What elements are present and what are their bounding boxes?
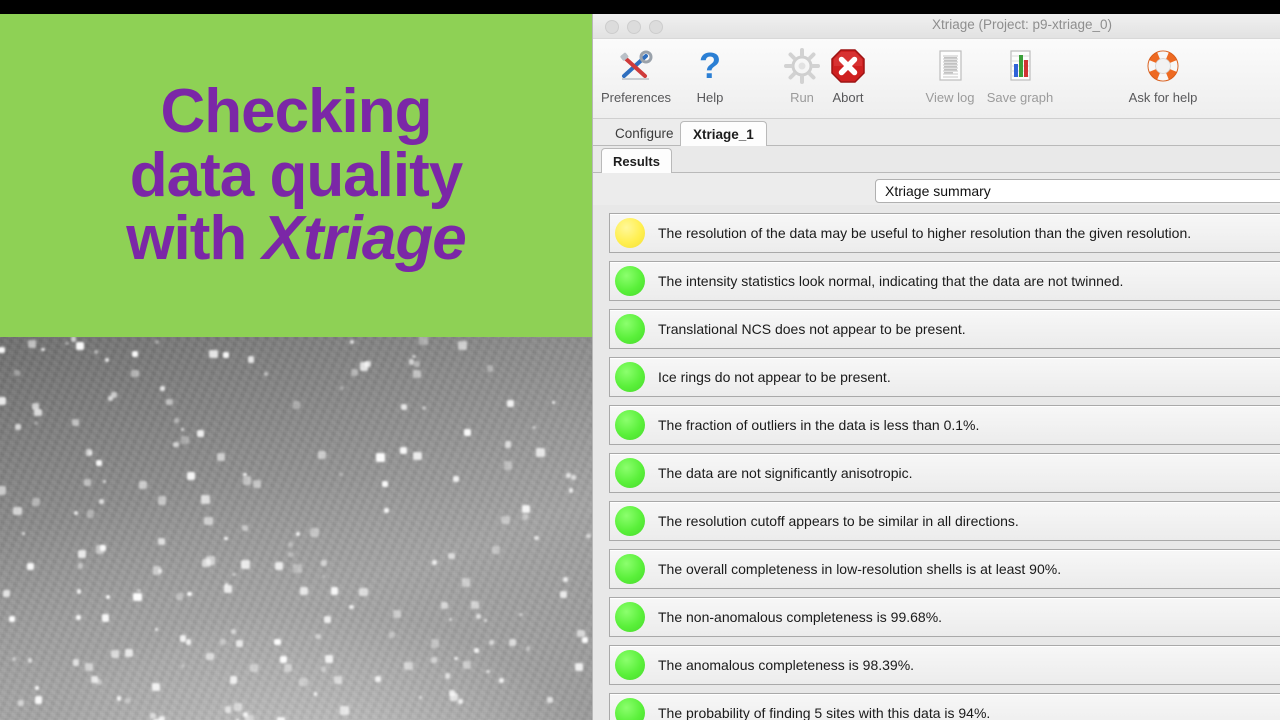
diffraction-spot: [18, 700, 24, 706]
diffraction-spot: [250, 664, 259, 673]
diffraction-spot: [152, 683, 161, 692]
stop-x-icon: [828, 44, 868, 88]
diffraction-spot: [99, 499, 104, 504]
diffraction-spot: [413, 370, 421, 378]
diffraction-spot: [76, 615, 81, 620]
diffraction-spot: [400, 447, 407, 454]
diffraction-spot: [458, 341, 467, 350]
diffraction-spot: [27, 563, 34, 570]
tab-configure[interactable]: Configure: [603, 122, 686, 145]
diffraction-spot: [419, 337, 428, 345]
diffraction-spot: [566, 473, 571, 478]
diffraction-spot: [15, 424, 21, 430]
diffraction-spot: [534, 536, 538, 540]
diffraction-spot: [206, 556, 214, 564]
status-indicator-green: [615, 602, 645, 632]
diffraction-spot: [71, 337, 76, 342]
diffraction-spot: [504, 461, 512, 469]
diffraction-spot: [225, 706, 232, 713]
diffraction-spot: [293, 401, 300, 408]
toolbar-button-help[interactable]: ? Help: [671, 44, 749, 116]
diffraction-spot: [471, 601, 479, 609]
diffraction-spot: [9, 616, 15, 622]
tab-bar: Configure Xtriage_1: [593, 119, 1280, 146]
diffraction-spot: [448, 553, 454, 559]
result-row[interactable]: The overall completeness in low-resoluti…: [609, 549, 1280, 589]
diffraction-spot: [577, 630, 585, 638]
diffraction-spot: [458, 699, 463, 704]
diffraction-spot: [166, 399, 172, 405]
diffraction-spot: [432, 560, 437, 565]
status-indicator-green: [615, 698, 645, 720]
diffraction-spot: [206, 653, 214, 661]
diffraction-spot: [34, 409, 42, 417]
document-icon: [930, 44, 970, 88]
diffraction-spot: [575, 663, 583, 671]
diffraction-spot: [321, 666, 327, 672]
letterbox-bar-top: [0, 0, 1280, 14]
diffraction-spot: [393, 610, 401, 618]
diffraction-spot: [454, 657, 457, 660]
diffraction-spot: [96, 460, 102, 466]
diffraction-spot: [231, 629, 237, 635]
result-row-text: The fraction of outliers in the data is …: [658, 417, 979, 433]
diffraction-spot: [507, 400, 514, 407]
diffraction-spot: [365, 361, 371, 367]
diffraction-spot: [131, 370, 138, 377]
diffraction-spot: [181, 436, 189, 444]
diffraction-spot: [224, 537, 228, 541]
diffraction-spot: [413, 452, 422, 461]
diffraction-spot: [331, 587, 338, 594]
diffraction-spot: [150, 713, 156, 719]
diffraction-spot: [106, 595, 109, 598]
result-row-text: The non-anomalous completeness is 99.68%…: [658, 609, 942, 625]
status-indicator-green: [615, 362, 645, 392]
diffraction-spot: [76, 342, 84, 350]
diffraction-spot: [173, 442, 179, 448]
diffraction-spot: [100, 545, 106, 551]
diffraction-spot: [288, 552, 294, 558]
diffraction-spot: [505, 441, 511, 447]
result-row-text: The overall completeness in low-resoluti…: [658, 561, 1061, 577]
diffraction-spot: [509, 639, 516, 646]
diffraction-spot: [547, 697, 553, 703]
diffraction-spot: [526, 646, 530, 650]
diffraction-spot: [35, 696, 42, 703]
diffraction-spot: [243, 473, 247, 477]
diffraction-spot: [409, 359, 415, 365]
diffraction-spot: [72, 419, 79, 426]
diffraction-spot: [586, 534, 591, 539]
diffraction-spot: [125, 698, 131, 704]
diffraction-spot: [275, 562, 283, 570]
toolbar-label-abort: Abort: [832, 90, 863, 105]
diffraction-spot: [501, 516, 510, 525]
diffraction-spot: [176, 593, 183, 600]
diffraction-spot: [300, 587, 308, 595]
diffraction-spot: [111, 650, 119, 658]
status-indicator-green: [615, 266, 645, 296]
diffraction-spot: [32, 498, 40, 506]
svg-text:?: ?: [699, 46, 721, 86]
diffraction-spot: [78, 563, 83, 568]
diffraction-spot: [376, 453, 385, 462]
diffraction-spot: [234, 703, 242, 711]
slide-title-line-3: with Xtriage: [126, 207, 465, 271]
diffraction-spot: [86, 449, 92, 455]
diffraction-spot: [236, 640, 243, 647]
toolbar-label-help: Help: [697, 90, 724, 105]
slide-title-line-3-text: with: [126, 204, 262, 273]
diffraction-spot: [431, 657, 437, 663]
diffraction-spot: [102, 614, 110, 622]
diffraction-spot: [441, 602, 448, 609]
diffraction-spot: [34, 421, 38, 425]
diffraction-spot: [315, 634, 321, 640]
result-row-text: The anomalous completeness is 98.39%.: [658, 657, 914, 673]
diffraction-spot: [158, 496, 167, 505]
result-row-text: The resolution of the data may be useful…: [658, 225, 1191, 241]
diffraction-spot: [280, 656, 287, 663]
diffraction-spot: [13, 507, 21, 515]
diffraction-spot: [223, 352, 229, 358]
diffraction-spot: [230, 676, 237, 683]
diffraction-spot: [0, 486, 6, 495]
diffraction-spot: [522, 514, 528, 520]
diffraction-spot: [3, 590, 10, 597]
sub-tab-results[interactable]: Results: [601, 148, 672, 173]
result-row-text: Translational NCS does not appear to be …: [658, 321, 966, 337]
lifebuoy-icon: [1143, 44, 1183, 88]
diffraction-spot: [158, 538, 165, 545]
diffraction-spot: [445, 673, 450, 678]
diffraction-spot: [284, 664, 291, 671]
result-row[interactable]: The data are not significantly anisotrop…: [609, 453, 1280, 493]
diffraction-spot: [87, 510, 95, 518]
toolbar-button-save-graph[interactable]: Save graph: [981, 44, 1059, 116]
diffraction-spot: [431, 639, 439, 647]
diffraction-spot: [349, 605, 353, 609]
result-row-text: Ice rings do not appear to be present.: [658, 369, 891, 385]
slide-title-line-1: Checking: [160, 80, 431, 144]
question-mark-icon: ?: [690, 44, 730, 88]
toolbar: Preferences ? Help: [593, 39, 1280, 119]
status-indicator-yellow: [615, 218, 645, 248]
diffraction-spot: [522, 505, 530, 513]
diffraction-spot: [322, 575, 325, 578]
diffraction-spot: [453, 476, 459, 482]
diffraction-spot: [414, 361, 419, 366]
diffraction-spot: [242, 525, 248, 531]
result-row[interactable]: The anomalous completeness is 98.39%.: [609, 645, 1280, 685]
screenshot-stage: Checking data quality with Xtriage Xtria…: [0, 0, 1280, 720]
diffraction-spot: [201, 495, 210, 504]
result-row[interactable]: The fraction of outliers in the data is …: [609, 405, 1280, 445]
diffraction-spot: [476, 614, 481, 619]
diffraction-spot: [41, 348, 45, 352]
diffraction-spot: [382, 481, 388, 487]
window-title: Xtriage (Project: p9-xtriage_0): [593, 17, 1280, 32]
diffraction-spot: [422, 406, 426, 410]
xtriage-window: Xtriage (Project: p9-xtriage_0) Preferen…: [592, 14, 1280, 720]
toolbar-button-view-log[interactable]: View log: [911, 44, 989, 116]
diffraction-spot: [243, 476, 251, 484]
diffraction-spot: [401, 404, 407, 410]
tools-icon: [616, 44, 656, 88]
diffraction-spot: [243, 712, 248, 717]
diffraction-spot: [384, 508, 389, 513]
summary-select[interactable]: Xtriage summary: [875, 179, 1280, 203]
diffraction-spot: [560, 591, 567, 598]
diffraction-spot: [499, 678, 504, 683]
diffraction-spot: [389, 632, 395, 638]
toolbar-button-ask-for-help[interactable]: Ask for help: [1108, 44, 1218, 116]
diffraction-spot: [155, 340, 159, 344]
diffraction-spot: [186, 639, 191, 644]
diffraction-spot: [324, 616, 331, 623]
diffraction-spot: [0, 397, 6, 405]
diffraction-spot: [288, 542, 293, 547]
diffraction-spot: [217, 453, 224, 460]
diffraction-spot: [350, 340, 354, 344]
diffraction-spot: [449, 618, 452, 621]
diffraction-spot: [419, 696, 422, 699]
diffraction-spot: [340, 706, 349, 715]
status-indicator-green: [615, 410, 645, 440]
diffraction-spot: [139, 481, 147, 489]
diffraction-spot: [274, 639, 280, 645]
status-indicator-green: [615, 458, 645, 488]
diffraction-spot: [334, 676, 342, 684]
diffraction-spot: [133, 593, 142, 602]
diffraction-spot: [375, 676, 381, 682]
diffraction-spot: [204, 517, 213, 526]
diffraction-spot: [14, 370, 20, 376]
diffraction-spot: [209, 350, 218, 359]
diffraction-spot: [84, 479, 91, 486]
result-row[interactable]: The resolution of the data may be useful…: [609, 213, 1280, 253]
diffraction-spot: [78, 550, 86, 558]
status-indicator-green: [615, 650, 645, 680]
bar-chart-icon: [1000, 44, 1040, 88]
diffraction-spot: [532, 426, 535, 429]
diffraction-spot: [450, 693, 458, 701]
result-row-text: The intensity statistics look normal, in…: [658, 273, 1123, 289]
diffraction-spot: [519, 613, 523, 617]
diffraction-spot: [340, 386, 344, 390]
diffraction-spot: [486, 670, 489, 673]
toolbar-label-ask-for-help: Ask for help: [1129, 90, 1198, 105]
diffraction-spot: [318, 451, 327, 460]
status-indicator-green: [615, 506, 645, 536]
diffraction-spot: [582, 637, 588, 643]
diffraction-spot: [137, 589, 140, 592]
toolbar-button-preferences[interactable]: Preferences: [597, 44, 675, 116]
diffraction-spot: [253, 480, 261, 488]
diffraction-spot: [241, 560, 250, 569]
diffraction-image: [0, 337, 592, 720]
diffraction-spot: [73, 659, 79, 665]
diffraction-spot: [125, 649, 133, 657]
diffraction-spot: [359, 588, 367, 596]
diffraction-spot: [463, 661, 471, 669]
diffraction-spot: [224, 585, 231, 592]
result-row[interactable]: Ice rings do not appear to be present.: [609, 357, 1280, 397]
result-row[interactable]: The intensity statistics look normal, in…: [609, 261, 1280, 301]
presentation-slide: Checking data quality with Xtriage: [0, 14, 592, 720]
diffraction-spot: [105, 358, 109, 362]
result-row-text: The data are not significantly anisotrop…: [658, 465, 912, 481]
results-list: The resolution of the data may be useful…: [593, 205, 1280, 720]
diffraction-spot: [187, 472, 195, 480]
diffraction-spot: [293, 564, 302, 573]
diffraction-spot: [464, 429, 471, 436]
diffraction-spot: [22, 532, 25, 535]
tab-xtriage-1[interactable]: Xtriage_1: [680, 121, 767, 146]
diffraction-spot: [111, 392, 117, 398]
diffraction-spot: [85, 663, 93, 671]
diffraction-spot: [91, 676, 98, 683]
result-row[interactable]: The probability of finding 5 sites with …: [609, 693, 1280, 720]
sub-tab-bar: Results: [593, 146, 1280, 173]
window-titlebar: Xtriage (Project: p9-xtriage_0): [593, 14, 1280, 39]
diffraction-spot: [187, 592, 191, 596]
diffraction-spot: [117, 696, 122, 701]
diffraction-spot: [487, 365, 493, 371]
diffraction-spot: [325, 655, 333, 663]
toolbar-label-save-graph: Save graph: [987, 90, 1054, 105]
status-indicator-green: [615, 314, 645, 344]
diffraction-spot: [310, 528, 319, 537]
status-indicator-green: [615, 554, 645, 584]
toolbar-label-preferences: Preferences: [601, 90, 671, 105]
diffraction-spot: [296, 532, 300, 536]
slide-title-block: Checking data quality with Xtriage: [0, 14, 592, 337]
diffraction-spot: [28, 658, 33, 663]
diffraction-spot: [0, 347, 5, 353]
diffraction-spot: [77, 589, 81, 593]
diffraction-spot: [571, 475, 576, 480]
toolbar-label-view-log: View log: [926, 90, 975, 105]
diffraction-spot: [159, 716, 165, 720]
diffraction-spot: [197, 430, 204, 437]
result-row[interactable]: The non-anomalous completeness is 99.68%…: [609, 597, 1280, 637]
diffraction-spot: [489, 640, 494, 645]
diffraction-spot: [264, 372, 267, 375]
diffraction-spot: [132, 351, 138, 357]
diffraction-spot: [404, 662, 412, 670]
diffraction-spot: [174, 418, 179, 423]
diffraction-spot: [248, 356, 254, 362]
result-row-text: The resolution cutoff appears to be simi…: [658, 513, 1019, 529]
diffraction-spot: [321, 560, 327, 566]
diffraction-spot: [563, 577, 568, 582]
diffraction-spot: [28, 340, 36, 348]
diffraction-spot: [536, 448, 545, 457]
result-row[interactable]: The resolution cutoff appears to be simi…: [609, 501, 1280, 541]
diffraction-spot: [351, 369, 358, 376]
diffraction-spot: [181, 664, 185, 668]
slide-title-emphasis: Xtriage: [263, 204, 466, 273]
toolbar-button-abort[interactable]: Abort: [809, 44, 887, 116]
diffraction-spot: [462, 578, 471, 587]
slide-title-line-2: data quality: [130, 144, 463, 208]
result-row-text: The probability of finding 5 sites with …: [658, 705, 990, 720]
result-row[interactable]: Translational NCS does not appear to be …: [609, 309, 1280, 349]
diffraction-spot: [492, 546, 500, 554]
diffraction-spot: [299, 678, 308, 687]
